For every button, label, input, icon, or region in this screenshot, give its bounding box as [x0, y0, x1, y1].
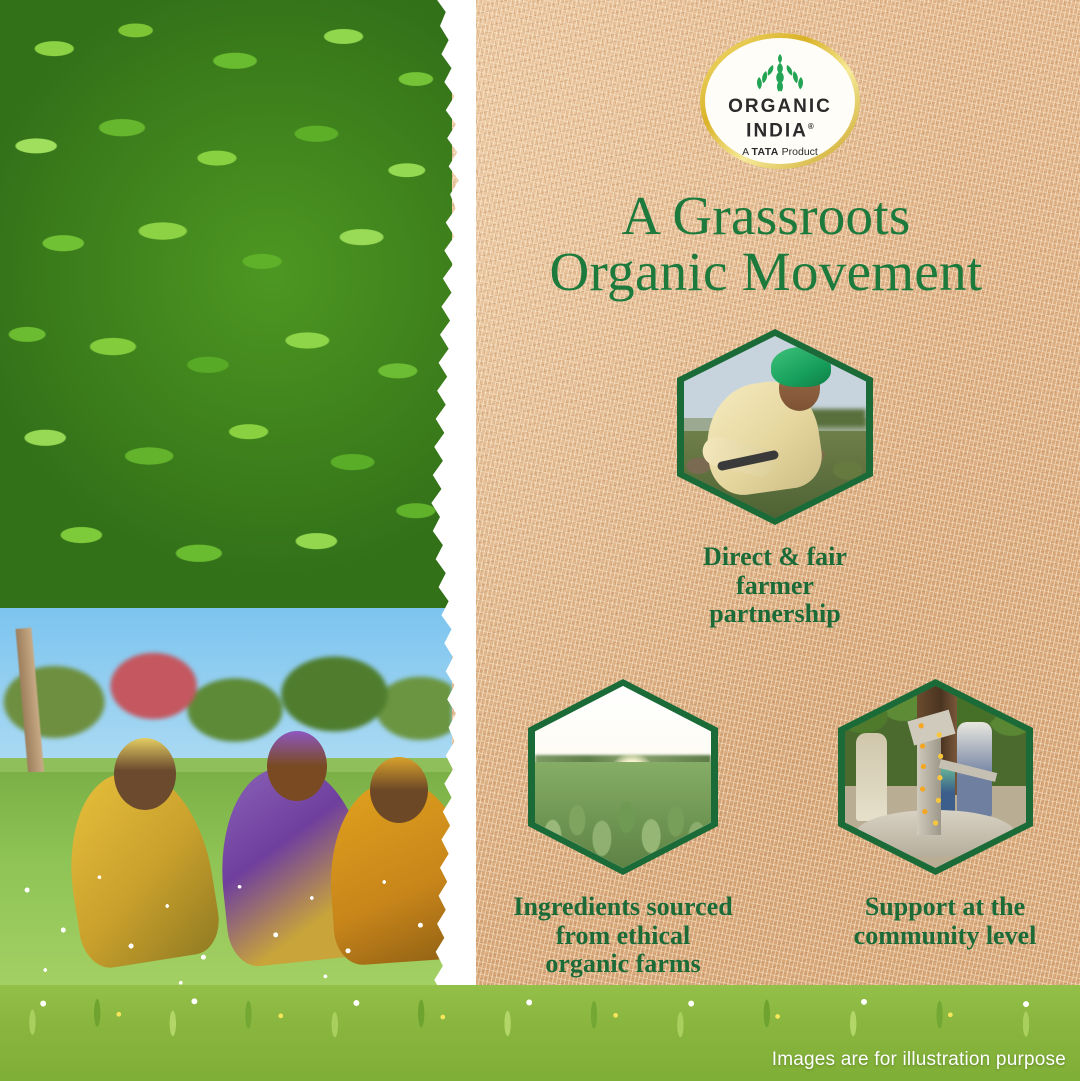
illustration-disclaimer: Images are for illustration purpose	[772, 1049, 1066, 1071]
poster-canvas: ORGANIC INDIA® A TATA Product A Grassroo…	[0, 0, 1080, 1081]
tagline-suffix: Product	[779, 146, 818, 158]
marigold-garland	[914, 719, 950, 832]
pillar-image-community-support	[838, 679, 1033, 875]
grass-flowers	[0, 989, 1080, 1045]
pillar-caption-ethical-farms: Ingredients sourced from ethical organic…	[470, 893, 776, 979]
caption-line-1: Ingredients sourced	[470, 893, 776, 922]
caption-line-3: organic farms	[470, 950, 776, 979]
pillar-caption-farmer-partnership: Direct & fair farmer partnership	[645, 543, 905, 629]
head-with-headscarf	[267, 731, 327, 801]
chamomile-blooms	[0, 842, 452, 1002]
women-harvesting-photo	[0, 608, 452, 1002]
caption-line-2: from ethical	[470, 922, 776, 951]
headline-line-1: A Grassroots	[621, 185, 910, 246]
moringa-leaves-photo	[0, 0, 452, 608]
registered-mark: ®	[808, 122, 814, 131]
caption-line-2: farmer	[645, 572, 905, 601]
logo-name-line1: ORGANIC	[728, 96, 832, 117]
green-crop-foreground	[535, 762, 711, 868]
tata-product-tagline: A TATA Product	[742, 146, 818, 158]
caption-line-1: Support at the	[820, 893, 1070, 922]
pillar-caption-community-support: Support at the community level	[820, 893, 1070, 950]
page-title: A Grassroots Organic Movement	[452, 188, 1080, 300]
logo-name-line2: INDIA	[746, 120, 808, 141]
organic-leaf-icon	[751, 52, 809, 92]
head-with-headscarf	[370, 757, 428, 823]
pillar-image-ethical-farms	[528, 679, 718, 875]
left-photo-column	[0, 0, 452, 1002]
caption-line-2: community level	[820, 922, 1070, 951]
villager-left	[856, 733, 887, 820]
leaf-photo-overlay	[0, 0, 452, 608]
caption-line-1: Direct & fair	[645, 543, 905, 572]
logo-face: ORGANIC INDIA® A TATA Product	[705, 38, 855, 164]
grass-footer-strip: Images are for illustration purpose	[0, 985, 1080, 1081]
headline-line-2: Organic Movement	[452, 244, 1080, 300]
pillar-image-farmer-partnership	[677, 329, 873, 525]
organic-india-logo: ORGANIC INDIA® A TATA Product	[700, 33, 860, 169]
head-with-headscarf	[114, 738, 176, 810]
tata-wordmark: TATA	[751, 146, 778, 158]
caption-line-3: partnership	[645, 600, 905, 629]
logo-wordmark: ORGANIC INDIA®	[728, 97, 832, 141]
